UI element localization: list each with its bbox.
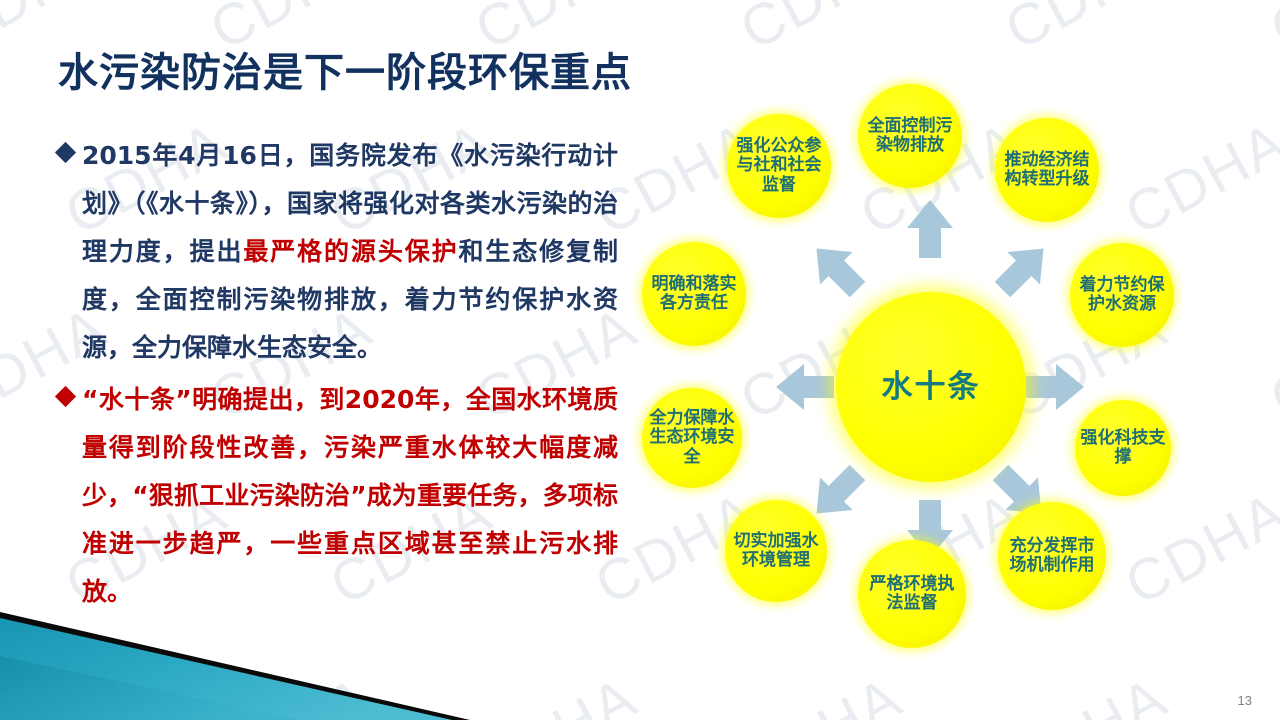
node-label: 全面控制污染物排放 xyxy=(858,117,962,155)
bullet-item-1: 2015年4月16日，国务院发布《水污染行动计划》（《水十条》），国家将强化对各… xyxy=(58,132,618,372)
bullet-1-segment-2-highlight: 最严格的源头保护 xyxy=(243,237,458,266)
node-label: 明确和落实各方责任 xyxy=(642,275,746,313)
diagram-node-quan-mian-kong-zhi[interactable]: 全面控制污染物排放 xyxy=(858,84,962,188)
node-label: 强化公众参与社和社会监督 xyxy=(727,137,831,194)
page-number: 13 xyxy=(1238,693,1252,708)
arrow-up-left-icon xyxy=(796,228,878,310)
diagram-node-yan-ge-huan-jing[interactable]: 严格环境执法监督 xyxy=(858,540,966,648)
diagram-node-ming-que-luo-shi[interactable]: 明确和落实各方责任 xyxy=(642,242,746,346)
diagram-node-chong-fen-fa-hui[interactable]: 充分发挥市场机制作用 xyxy=(998,502,1106,610)
radial-diagram: 水十条 全面控制污染物排放 推动经济结构转型升级 着力节约保护水资源 强化科技支… xyxy=(620,70,1220,670)
slide-canvas: 水污染防治是下一阶段环保重点 2015年4月16日，国务院发布《水污染行动计划》… xyxy=(0,0,1280,720)
node-label: 全力保障水生态环境安全 xyxy=(642,409,742,466)
arrow-up-right-icon xyxy=(982,228,1064,310)
bullet-paragraph-1: 2015年4月16日，国务院发布《水污染行动计划》（《水十条》），国家将强化对各… xyxy=(82,132,618,372)
node-label: 强化科技支撑 xyxy=(1075,429,1171,467)
node-label: 着力节约保护水资源 xyxy=(1070,276,1174,314)
diagram-node-qiang-hua-ke-ji[interactable]: 强化科技支撑 xyxy=(1075,400,1171,496)
arrow-up-icon xyxy=(903,198,957,260)
node-label: 充分发挥市场机制作用 xyxy=(998,537,1106,575)
diagram-node-quan-li-bao-zhang[interactable]: 全力保障水生态环境安全 xyxy=(642,388,742,488)
diamond-bullet-icon xyxy=(55,386,76,407)
diagram-node-zhuo-li-jie-yue[interactable]: 着力节约保护水资源 xyxy=(1070,243,1174,347)
corner-decoration xyxy=(0,560,470,720)
arrow-right-icon xyxy=(1024,360,1086,414)
body-text-column: 2015年4月16日，国务院发布《水污染行动计划》（《水十条》），国家将强化对各… xyxy=(58,132,618,620)
node-label: 切实加强水环境管理 xyxy=(725,532,827,570)
page-title: 水污染防治是下一阶段环保重点 xyxy=(58,40,632,98)
node-label: 严格环境执法监督 xyxy=(858,575,966,613)
diagram-center-node[interactable]: 水十条 xyxy=(836,292,1026,482)
center-node-label: 水十条 xyxy=(878,370,985,405)
diagram-node-qie-shi-jia-qiang[interactable]: 切实加强水环境管理 xyxy=(725,500,827,602)
arrow-left-icon xyxy=(774,360,836,414)
node-label: 推动经济结构转型升级 xyxy=(995,151,1099,189)
diagram-node-tui-dong-jing-ji[interactable]: 推动经济结构转型升级 xyxy=(995,118,1099,222)
diamond-bullet-icon xyxy=(55,142,76,163)
diagram-node-qiang-hua-gong-zhong[interactable]: 强化公众参与社和社会监督 xyxy=(727,114,831,218)
